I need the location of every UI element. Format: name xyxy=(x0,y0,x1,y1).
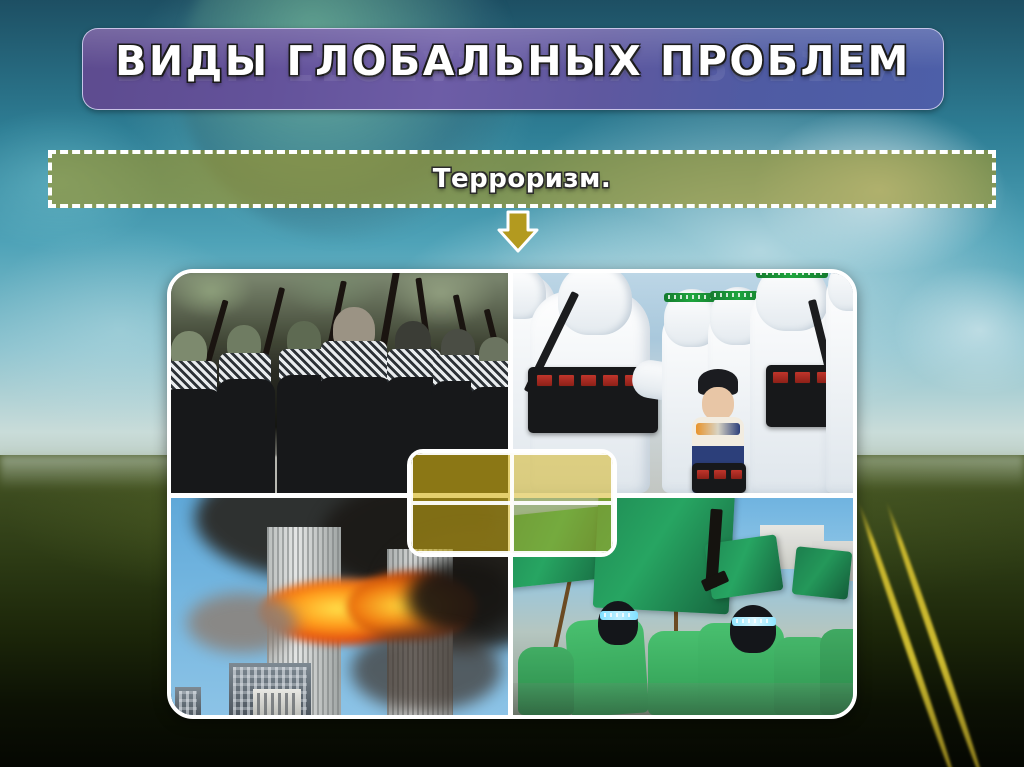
center-tile-grid xyxy=(407,449,617,557)
title-banner: ВИДЫ ГЛОБАЛЬНЫХ ПРОБЛЕМ ВИДЫ ГЛОБАЛЬНЫХ … xyxy=(82,28,944,110)
slide-canvas: ВИДЫ ГЛОБАЛЬНЫХ ПРОБЛЕМ ВИДЫ ГЛОБАЛЬНЫХ … xyxy=(0,0,1024,767)
photo-collage xyxy=(167,269,857,719)
subtitle-box: Терроризм. xyxy=(48,150,996,208)
tile-3 xyxy=(411,503,512,553)
tile-2 xyxy=(512,453,613,503)
background-road xyxy=(836,500,1024,767)
tile-4 xyxy=(512,503,613,553)
page-title: ВИДЫ ГЛОБАЛЬНЫХ ПРОБЛЕМ xyxy=(83,35,943,87)
down-arrow-icon xyxy=(496,210,540,254)
tile-1 xyxy=(411,453,512,503)
subtitle-label: Терроризм. xyxy=(433,164,612,194)
road-line-left xyxy=(855,501,960,767)
